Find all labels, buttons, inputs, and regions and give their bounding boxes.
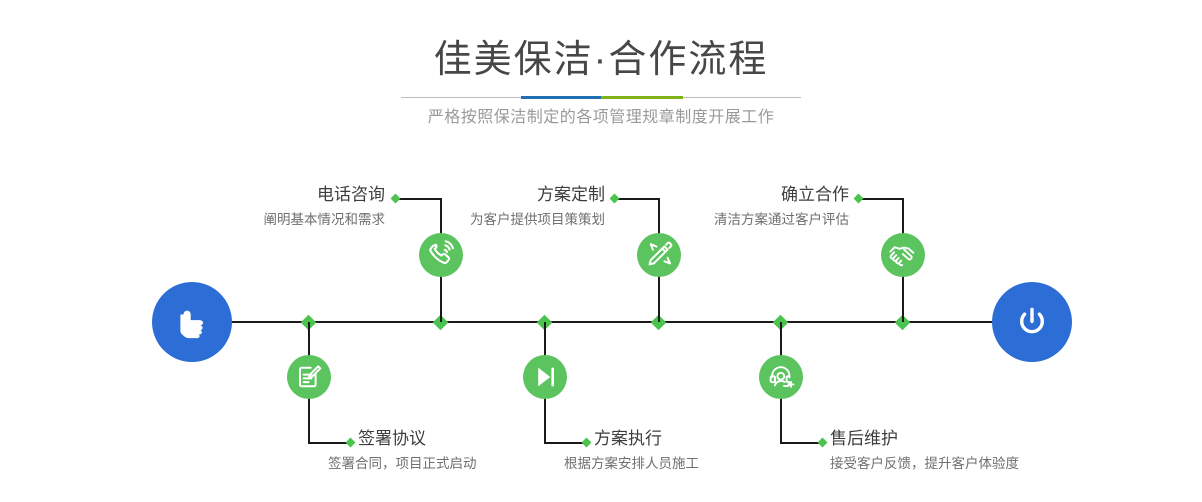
step-2-desc: 签署合同，项目正式启动 (328, 454, 477, 474)
step-2-marker (346, 438, 356, 448)
step-2-icon-node[interactable] (287, 355, 331, 399)
pointing-hand-icon (170, 300, 214, 344)
step-5-elbow (860, 198, 903, 200)
flow-end-node[interactable] (992, 282, 1072, 362)
pencil-design-icon (637, 233, 681, 277)
step-6-icon-node[interactable] (759, 355, 803, 399)
step-1-icon-node[interactable] (419, 233, 463, 277)
page-subtitle: 严格按照保洁制定的各项管理规章制度开展工作 (0, 106, 1202, 130)
play-execute-icon (523, 355, 567, 399)
step-6-marker (818, 438, 828, 448)
page-title: 佳美保洁·合作流程 (0, 36, 1202, 84)
power-icon (1010, 300, 1054, 344)
headset-support-icon (759, 355, 803, 399)
flow-start-node[interactable] (152, 282, 232, 362)
step-5-marker (854, 194, 864, 204)
step-4-desc: 根据方案安排人员施工 (564, 454, 699, 474)
step-3-title: 方案定制 (340, 183, 605, 207)
step-4-marker (582, 438, 592, 448)
title-divider (401, 96, 801, 99)
phone-call-icon (419, 233, 463, 277)
page-header: 佳美保洁·合作流程 严格按照保洁制定的各项管理规章制度开展工作 (0, 0, 1202, 150)
process-flow-diagram: 电话咨询 阐明基本情况和需求 签署协议 签署合同，项目正式启动 (0, 150, 1202, 502)
step-6-desc: 接受客户反馈，提升客户体验度 (830, 454, 1019, 474)
step-5-icon-node[interactable] (881, 233, 925, 277)
step-5-desc: 清洁方案通过客户评估 (564, 210, 849, 230)
flow-spine (222, 321, 1002, 323)
divider-segment-green (601, 96, 683, 99)
step-4-icon-node[interactable] (523, 355, 567, 399)
step-4-title: 方案执行 (594, 427, 662, 451)
step-6-title: 售后维护 (830, 427, 898, 451)
handshake-icon (881, 233, 925, 277)
step-5-title: 确立合作 (584, 183, 849, 207)
document-edit-icon (287, 355, 331, 399)
step-3-icon-node[interactable] (637, 233, 681, 277)
divider-segment-blue (521, 96, 601, 99)
step-2-title: 签署协议 (358, 427, 426, 451)
step-3-desc: 为客户提供项目策策划 (320, 210, 605, 230)
